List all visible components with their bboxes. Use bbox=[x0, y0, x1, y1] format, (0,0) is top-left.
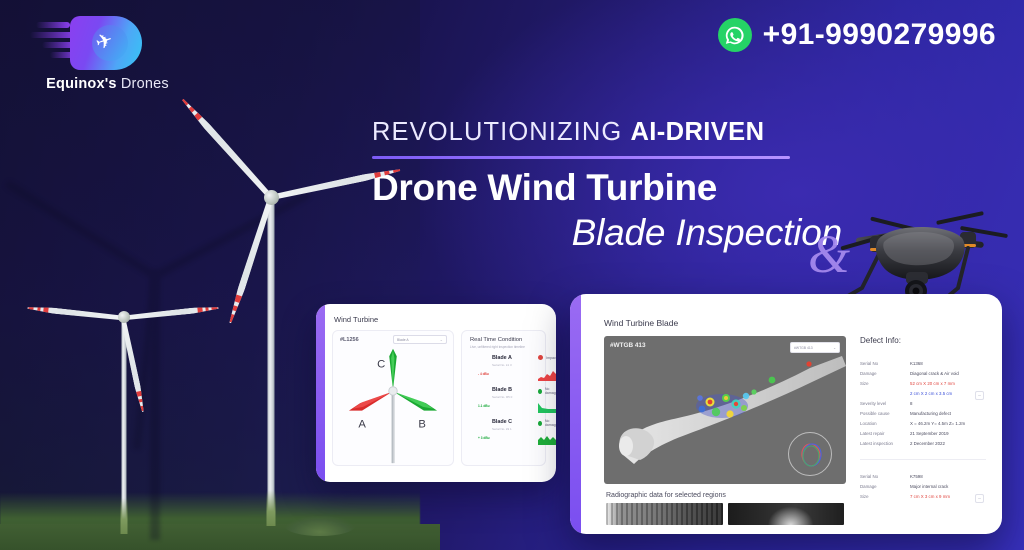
wind-turbine-dashboard-card[interactable]: Wind Turbine #L1256 Blade A ⌄ bbox=[316, 304, 556, 482]
defect-key: Size bbox=[860, 494, 910, 501]
defect-key: Serial No bbox=[860, 474, 910, 481]
defect-key: Latest repair bbox=[860, 431, 910, 438]
blade-serial: Serial No. k1 3 bbox=[492, 363, 512, 367]
defect-row: Size 7 cm X 3 cm x 9 mm bbox=[860, 492, 986, 502]
svg-text:C: C bbox=[377, 359, 385, 371]
blade-value: - 4 dBu bbox=[478, 372, 489, 376]
defect-info-title: Defect Info: bbox=[860, 336, 986, 345]
realtime-subtitle: Live, unfiltered right inspection timeli… bbox=[470, 345, 525, 349]
brand-name-light: Drones bbox=[121, 76, 169, 92]
blade-inspection-dashboard-card[interactable]: Wind Turbine Blade bbox=[570, 294, 1002, 534]
blade-sparkline-chart bbox=[538, 429, 556, 445]
blade-value: 1.1 dBu bbox=[478, 404, 490, 408]
blade-3d-viewport[interactable]: #WTGB 413 #WTGB 413 ⌄ bbox=[604, 336, 846, 484]
defect-key: Damage bbox=[860, 371, 910, 378]
expand-toggle-icon[interactable]: – bbox=[975, 494, 984, 503]
hero-banner: ✈ Equinox's Drones +91-9990279996 REVOLU… bbox=[0, 0, 1024, 550]
blade-select-dropdown[interactable]: Blade A ⌄ bbox=[393, 335, 447, 344]
defect-card[interactable]: – Serial No K1368 Damage Diagonal crack … bbox=[860, 359, 986, 460]
defect-value: 21 September 2019 bbox=[910, 431, 986, 438]
defect-value: 8 bbox=[910, 401, 986, 408]
kicker-light: REVOLUTIONIZING bbox=[372, 118, 630, 146]
realtime-title: Real Time Condition bbox=[470, 337, 522, 343]
blade-view-dropdown[interactable]: #WTGB 413 ⌄ bbox=[790, 342, 840, 353]
turbine-id-label: #L1256 bbox=[340, 337, 359, 343]
defect-info-panel: Defect Info: – Serial No K1368 Damage Di… bbox=[860, 336, 986, 524]
defect-value: 2 December 2022 bbox=[910, 441, 986, 448]
expand-toggle-icon[interactable]: – bbox=[975, 391, 984, 400]
blade-select-value: Blade A bbox=[397, 338, 440, 342]
drone-d-logo-icon: ✈ bbox=[30, 12, 150, 74]
blade-status-label: Impact bbox=[546, 356, 556, 360]
blade-status: Impact bbox=[538, 355, 556, 360]
brand-name-bold: Equinox's bbox=[46, 76, 117, 92]
chevron-down-icon: ⌄ bbox=[833, 346, 836, 350]
defect-value: 52 cm X 20 cm x 7 mm bbox=[910, 381, 986, 388]
defect-row: Serial No K7598 bbox=[860, 472, 986, 482]
whatsapp-contact[interactable]: +91-9990279996 bbox=[718, 18, 996, 52]
whatsapp-icon[interactable] bbox=[718, 18, 752, 52]
radiographic-strips[interactable] bbox=[606, 503, 844, 525]
defect-row: 2 cm X 2 cm x 3.5 cm bbox=[860, 389, 986, 399]
defect-key: Severity level bbox=[860, 401, 910, 408]
blade-sparkline-chart bbox=[538, 397, 556, 413]
blade-name: Blade A bbox=[492, 355, 512, 361]
blade-sparkline-chart bbox=[538, 365, 556, 381]
defect-value: X = 46.2m Y= 4.5m Z= 1.2m bbox=[910, 421, 986, 428]
wind-turbine-small bbox=[121, 316, 126, 540]
defect-key: Possible cause bbox=[860, 411, 910, 418]
defect-key bbox=[860, 391, 910, 398]
blade-view-value: #WTGB 413 bbox=[794, 346, 833, 350]
status-dot-icon bbox=[538, 389, 542, 394]
defect-row: Possible cause Manufacturing defect bbox=[860, 409, 986, 419]
cross-section-inset[interactable] bbox=[788, 432, 832, 476]
defect-value: Manufacturing defect bbox=[910, 411, 986, 418]
defect-row: Damage Diagonal crack & Air void bbox=[860, 369, 986, 379]
blade-status-row[interactable]: Blade B Serial No. R5 0 1.1 dBu No damag… bbox=[470, 385, 538, 417]
radiograph-thumbnail[interactable] bbox=[606, 503, 723, 525]
blade-name: Blade C bbox=[492, 419, 512, 425]
svg-text:B: B bbox=[418, 419, 426, 431]
defect-value: Diagonal crack & Air void bbox=[910, 371, 986, 378]
radiographic-caption: Radiographic data for selected regions bbox=[606, 492, 726, 499]
blade-status-label: No damage bbox=[545, 419, 556, 427]
defect-key: Serial No bbox=[860, 361, 910, 368]
defect-card[interactable]: – Serial No K7598 Damage Major internal … bbox=[860, 472, 986, 512]
status-dot-icon bbox=[538, 421, 542, 426]
headline-line-2: Blade Inspection bbox=[372, 212, 842, 254]
headline-divider bbox=[372, 156, 790, 159]
wind-turbine-large bbox=[268, 196, 274, 536]
status-dot-icon bbox=[538, 355, 543, 360]
right-card-title: Wind Turbine Blade bbox=[604, 318, 678, 328]
headline-line-1: Drone Wind Turbine bbox=[372, 169, 842, 208]
defect-key: Size bbox=[860, 381, 910, 388]
headline-kicker: REVOLUTIONIZING AI-DRIVEN bbox=[372, 118, 842, 147]
defect-value: K1368 bbox=[910, 361, 986, 368]
kicker-bold: AI-DRIVEN bbox=[630, 118, 764, 146]
blade-id-label: #WTGB 413 bbox=[610, 342, 646, 349]
blade-value: + 3 dBu bbox=[478, 436, 490, 440]
blade-status: No damage bbox=[538, 419, 556, 427]
blade-name: Blade B bbox=[492, 387, 512, 393]
turbine-diagram-panel: #L1256 Blade A ⌄ bbox=[332, 330, 454, 466]
radiograph-thumbnail[interactable] bbox=[728, 503, 845, 525]
blade-status-label: No damage bbox=[545, 387, 556, 395]
left-card-title: Wind Turbine bbox=[334, 315, 378, 324]
defect-row: Size 52 cm X 20 cm x 7 mm bbox=[860, 379, 986, 389]
realtime-condition-panel: Real Time Condition Live, unfiltered rig… bbox=[461, 330, 546, 466]
defect-key: Latest inspection bbox=[860, 441, 910, 448]
defect-row: Latest inspection 2 December 2022 bbox=[860, 439, 986, 449]
defect-value: K7598 bbox=[910, 474, 986, 481]
defect-row: Damage Major internal crack bbox=[860, 482, 986, 492]
brand-logo[interactable]: ✈ Equinox's Drones bbox=[20, 12, 195, 92]
turbine-blade-diagram: C A B bbox=[333, 345, 453, 465]
blade-status: No damage bbox=[538, 387, 556, 395]
defect-row: Severity level 8 bbox=[860, 399, 986, 409]
blade-status-row[interactable]: Blade A Serial No. k1 3 - 4 dBu Impact bbox=[470, 353, 538, 385]
defect-value: Major internal crack bbox=[910, 484, 986, 491]
chevron-down-icon: ⌄ bbox=[440, 337, 443, 342]
defect-key: Location bbox=[860, 421, 910, 428]
blade-status-row[interactable]: Blade C Serial No. k9 1 + 3 dBu No damag… bbox=[470, 417, 538, 449]
blade-serial: Serial No. R5 0 bbox=[492, 395, 512, 399]
defect-key: Damage bbox=[860, 484, 910, 491]
brand-name: Equinox's Drones bbox=[20, 76, 195, 92]
svg-text:A: A bbox=[358, 419, 366, 431]
phone-number[interactable]: +91-9990279996 bbox=[763, 18, 996, 52]
blade-serial: Serial No. k9 1 bbox=[492, 427, 512, 431]
defect-row: Latest repair 21 September 2019 bbox=[860, 429, 986, 439]
defect-row: Location X = 46.2m Y= 4.5m Z= 1.2m bbox=[860, 419, 986, 429]
headline-block: REVOLUTIONIZING AI-DRIVEN Drone Wind Tur… bbox=[372, 118, 842, 254]
defect-row: Serial No K1368 bbox=[860, 359, 986, 369]
